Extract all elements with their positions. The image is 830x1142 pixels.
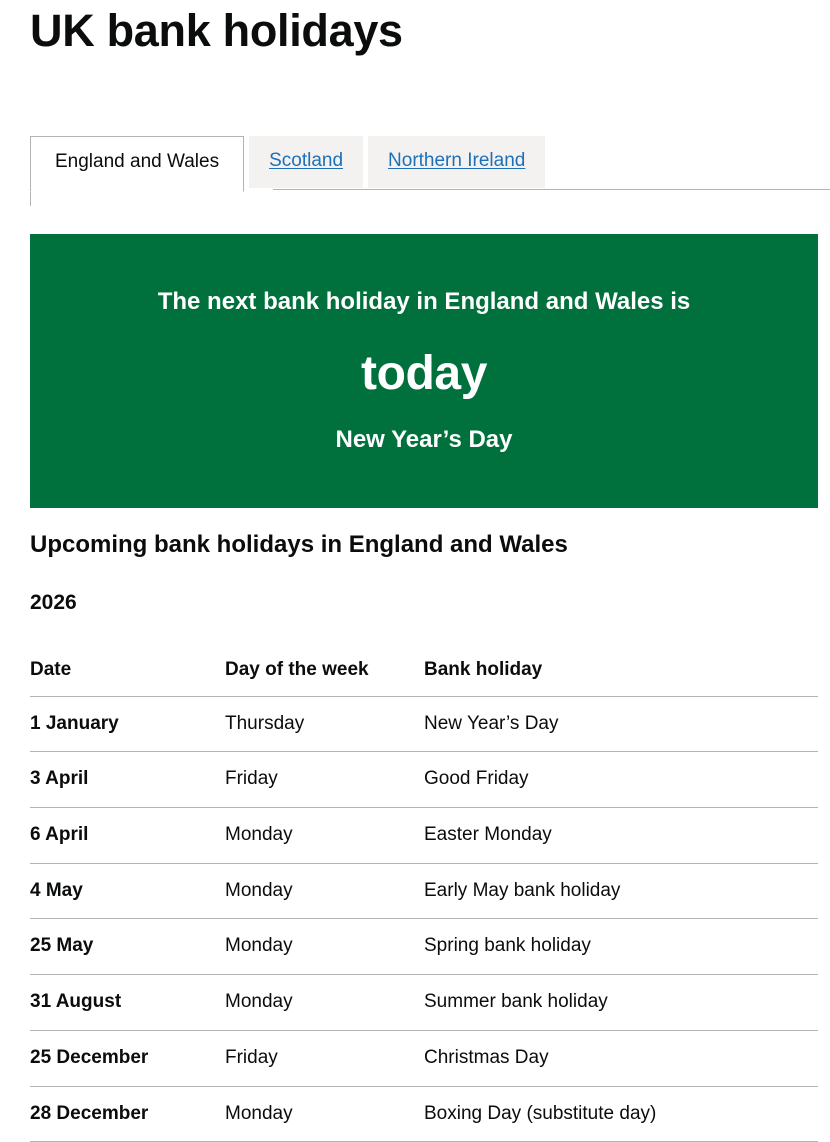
table-row: 28 December Monday Boxing Day (substitut… xyxy=(30,1086,818,1142)
column-header-bank-holiday: Bank holiday xyxy=(424,658,818,696)
next-holiday-name: New Year’s Day xyxy=(30,426,818,455)
year-heading: 2026 xyxy=(30,590,77,615)
cell-bank-holiday: Easter Monday xyxy=(424,808,818,864)
column-header-date: Date xyxy=(30,658,225,696)
cell-bank-holiday: New Year’s Day xyxy=(424,696,818,752)
cell-bank-holiday: Christmas Day xyxy=(424,1030,818,1086)
table-row: 1 January Thursday New Year’s Day xyxy=(30,696,818,752)
tabs-list: England and Wales Scotland Northern Irel… xyxy=(30,136,550,191)
cell-day: Monday xyxy=(225,919,424,975)
page-title: UK bank holidays xyxy=(30,6,403,55)
cell-day: Friday xyxy=(225,752,424,808)
cell-bank-holiday: Boxing Day (substitute day) xyxy=(424,1086,818,1142)
table-head: Date Day of the week Bank holiday xyxy=(30,658,818,696)
cell-bank-holiday: Summer bank holiday xyxy=(424,975,818,1031)
tab-scotland-label[interactable]: Scotland xyxy=(269,150,343,171)
next-holiday-when: today xyxy=(30,348,818,401)
table-row: 4 May Monday Early May bank holiday xyxy=(30,863,818,919)
cell-bank-holiday: Good Friday xyxy=(424,752,818,808)
cell-bank-holiday: Spring bank holiday xyxy=(424,919,818,975)
cell-day: Monday xyxy=(225,975,424,1031)
cell-date: 25 May xyxy=(30,919,225,975)
cell-date: 31 August xyxy=(30,975,225,1031)
country-tabs: England and Wales Scotland Northern Irel… xyxy=(30,136,830,190)
tab-england-and-wales[interactable]: England and Wales xyxy=(30,136,244,192)
table-row: 3 April Friday Good Friday xyxy=(30,752,818,808)
cell-day: Friday xyxy=(225,1030,424,1086)
table-row: 6 April Monday Easter Monday xyxy=(30,808,818,864)
next-holiday-banner: The next bank holiday in England and Wal… xyxy=(30,234,818,508)
tab-england-and-wales-label[interactable]: England and Wales xyxy=(55,151,219,172)
cell-date: 1 January xyxy=(30,696,225,752)
cell-date: 6 April xyxy=(30,808,225,864)
table-row: 31 August Monday Summer bank holiday xyxy=(30,975,818,1031)
cell-date: 4 May xyxy=(30,863,225,919)
table-header-row: Date Day of the week Bank holiday xyxy=(30,658,818,696)
table-row: 25 December Friday Christmas Day xyxy=(30,1030,818,1086)
cell-date: 28 December xyxy=(30,1086,225,1142)
cell-date: 3 April xyxy=(30,752,225,808)
tab-northern-ireland-label[interactable]: Northern Ireland xyxy=(388,150,525,171)
holidays-table: Date Day of the week Bank holiday 1 Janu… xyxy=(30,658,818,1142)
table-body: 1 January Thursday New Year’s Day 3 Apri… xyxy=(30,696,818,1142)
table-row: 25 May Monday Spring bank holiday xyxy=(30,919,818,975)
bank-holidays-page: UK bank holidays England and Wales Scotl… xyxy=(0,0,830,1134)
cell-day: Thursday xyxy=(225,696,424,752)
cell-day: Monday xyxy=(225,1086,424,1142)
cell-date: 25 December xyxy=(30,1030,225,1086)
tab-northern-ireland[interactable]: Northern Ireland xyxy=(368,136,545,188)
cell-day: Monday xyxy=(225,808,424,864)
next-holiday-lede: The next bank holiday in England and Wal… xyxy=(30,288,818,317)
tab-scotland[interactable]: Scotland xyxy=(249,136,363,188)
cell-bank-holiday: Early May bank holiday xyxy=(424,863,818,919)
column-header-day: Day of the week xyxy=(225,658,424,696)
section-heading: Upcoming bank holidays in England and Wa… xyxy=(30,531,568,560)
cell-day: Monday xyxy=(225,863,424,919)
